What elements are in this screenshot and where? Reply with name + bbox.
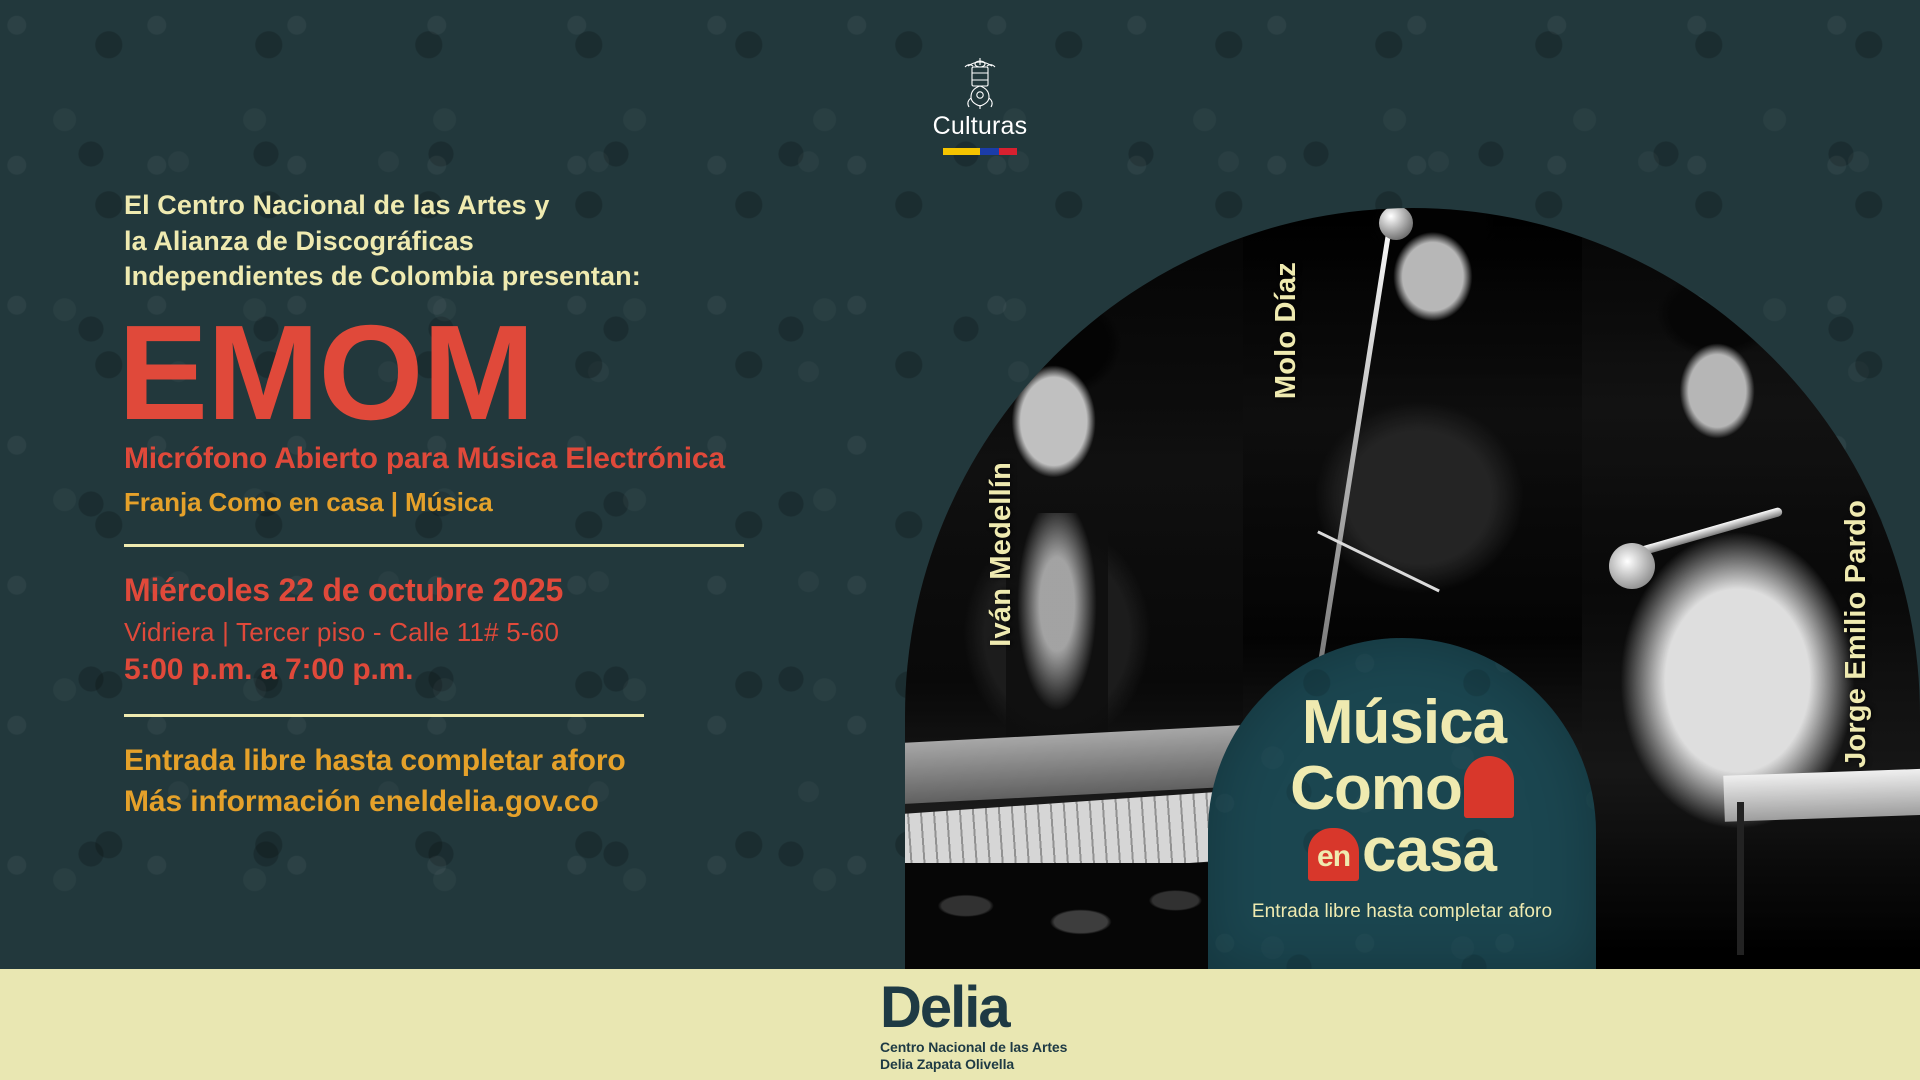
musica-como-en-casa-badge: Música Como en casa Entrada libre hasta …	[1208, 638, 1596, 970]
photo-detail-keyboard-right	[1723, 768, 1920, 821]
flag-stripe-blue	[980, 148, 999, 155]
artist-name-label-2: Molo Díaz	[1270, 262, 1303, 399]
event-poster: Culturas El Centro Nacional de las Artes…	[0, 0, 1920, 1080]
photo-detail-stand	[1737, 802, 1744, 954]
event-time: 5:00 p.m. a 7:00 p.m.	[124, 652, 954, 688]
footer-band: Delia Centro Nacional de las Artes Delia…	[0, 969, 1920, 1080]
presenter-line-2: la Alianza de Discográficas	[124, 224, 954, 260]
event-date: Miércoles 22 de octubre 2025	[124, 571, 954, 609]
badge-line-en-casa: en casa	[1208, 822, 1596, 880]
badge-word-en: en	[1308, 828, 1359, 881]
presenter-line-1: El Centro Nacional de las Artes y	[124, 188, 954, 224]
presenter-line-3: Independientes de Colombia presentan:	[124, 259, 954, 295]
artist-name-label-3: Jorge Emilio Pardo	[1840, 500, 1873, 768]
photo-detail-shirt	[1006, 513, 1107, 742]
event-program-line: Franja Como en casa | Música	[124, 487, 954, 518]
badge-word-como: Como	[1290, 760, 1462, 818]
admission-note: Entrada libre hasta completar aforo	[124, 741, 954, 782]
artist-name-label-1: Iván Medellín	[985, 462, 1018, 647]
poster-text-column: El Centro Nacional de las Artes y la Ali…	[124, 188, 954, 822]
flag-stripe-yellow	[943, 148, 980, 155]
delia-subtitle-line-1: Centro Nacional de las Artes	[880, 1039, 1080, 1056]
photo-detail-cables	[905, 863, 1243, 970]
event-venue: Vidriera | Tercer piso - Calle 11# 5-60	[124, 616, 954, 649]
culturas-logo: Culturas	[920, 54, 1040, 155]
delia-wordmark: Delia	[880, 979, 1080, 1037]
photo-detail-trumpet-bell	[1609, 543, 1655, 589]
photo-detail-trumpet	[1631, 507, 1783, 559]
delia-subtitle-line-2: Delia Zapata Olivella	[880, 1056, 1080, 1073]
badge-word-musica: Música	[1302, 694, 1506, 752]
event-title: EMOM	[118, 311, 954, 435]
artist-photo-ivan-medellin	[905, 208, 1243, 970]
culturas-wordmark: Culturas	[920, 114, 1040, 139]
delia-subtitle: Centro Nacional de las Artes Delia Zapat…	[880, 1039, 1080, 1073]
house-arch-icon	[1464, 756, 1514, 818]
event-subtitle: Micrófono Abierto para Música Electrónic…	[124, 441, 954, 477]
colombia-flag-bar	[943, 148, 1017, 155]
badge-line-musica: Música	[1212, 694, 1596, 752]
photo-detail-gear	[905, 724, 1243, 804]
badge-content: Música Como en casa Entrada libre hasta …	[1208, 638, 1596, 923]
divider-bottom	[124, 714, 644, 717]
badge-word-casa: casa	[1362, 822, 1496, 880]
flag-stripe-red	[999, 148, 1018, 155]
presenter-block: El Centro Nacional de las Artes y la Ali…	[124, 188, 954, 295]
badge-tagline: Entrada libre hasta completar aforo	[1208, 901, 1596, 923]
photo-detail-microphone	[1379, 208, 1413, 240]
more-info-note: Más información eneldelia.gov.co	[124, 782, 954, 823]
badge-line-como: Como	[1208, 756, 1596, 818]
divider-top	[124, 544, 744, 547]
delia-logo: Delia Centro Nacional de las Artes Delia…	[880, 979, 1080, 1073]
colombia-coat-of-arms-icon	[957, 54, 1003, 110]
